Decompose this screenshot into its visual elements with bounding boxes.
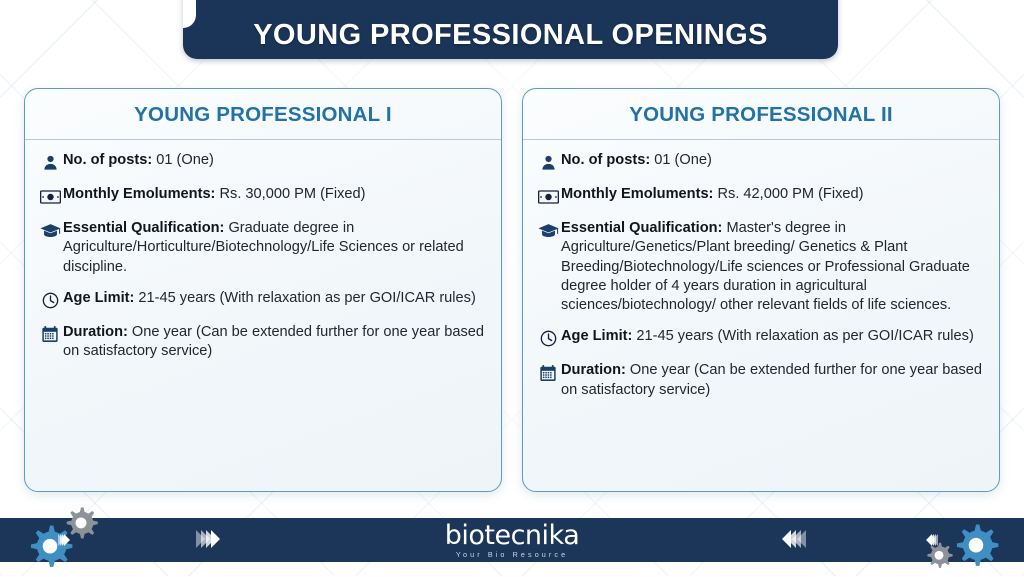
list-item-text: Essential Qualification: Master's degree… <box>561 219 985 315</box>
list-item-value: Rs. 30,000 PM (Fixed) <box>215 186 365 202</box>
person-icon <box>535 152 561 173</box>
list-item-value: 21-45 years (With relaxation as per GOI/… <box>134 290 475 306</box>
card-body: No. of posts: 01 (One) Monthly Emolument… <box>25 140 501 491</box>
list-item-text: Duration: One year (Can be extended furt… <box>63 323 487 362</box>
list-item-label: Age Limit: <box>561 328 632 344</box>
list-item-label: Age Limit: <box>63 290 134 306</box>
banknote-icon <box>37 186 63 207</box>
card-body: No. of posts: 01 (One) Monthly Emolument… <box>523 140 999 491</box>
list-item-text: No. of posts: 01 (One) <box>63 151 487 170</box>
list-item-value: 21-45 years (With relaxation as per GOI/… <box>632 328 973 344</box>
left-chevrons-icon-b <box>926 534 934 546</box>
list-item-duration: Duration: One year (Can be extended furt… <box>37 323 487 362</box>
card-young-professional-2: YOUNG PROFESSIONAL II No. of posts: 01 (… <box>522 88 1000 492</box>
right-chevrons-icon-b <box>196 530 216 548</box>
card-young-professional-1: YOUNG PROFESSIONAL I No. of posts: 01 (O… <box>24 88 502 492</box>
list-item-value: 01 (One) <box>152 152 214 168</box>
list-item-essential-qualification: Essential Qualification: Graduate degree… <box>37 219 487 277</box>
list-item-monthly-emoluments: Monthly Emoluments: Rs. 30,000 PM (Fixed… <box>37 185 487 207</box>
list-item-no-of-posts: No. of posts: 01 (One) <box>535 151 985 173</box>
list-item-text: No. of posts: 01 (One) <box>561 151 985 170</box>
graduation-cap-icon <box>535 220 561 241</box>
footer-content <box>0 518 1024 562</box>
clock-icon <box>37 290 63 311</box>
card-title: YOUNG PROFESSIONAL II <box>523 89 999 140</box>
list-item-label: Duration: <box>63 324 128 340</box>
list-item-label: No. of posts: <box>63 152 152 168</box>
clock-icon <box>535 328 561 349</box>
list-item-duration: Duration: One year (Can be extended furt… <box>535 361 985 400</box>
list-item-no-of-posts: No. of posts: 01 (One) <box>37 151 487 173</box>
list-item-text: Essential Qualification: Graduate degree… <box>63 219 487 277</box>
card-title: YOUNG PROFESSIONAL I <box>25 89 501 140</box>
banknote-icon <box>535 186 561 207</box>
list-item-label: Essential Qualification: <box>561 220 722 236</box>
calendar-icon <box>37 324 63 345</box>
left-chevrons-icon-a <box>782 530 802 548</box>
list-item-label: Monthly Emoluments: <box>561 186 713 202</box>
list-item-label: Monthly Emoluments: <box>63 186 215 202</box>
list-item-monthly-emoluments: Monthly Emoluments: Rs. 42,000 PM (Fixed… <box>535 185 985 207</box>
calendar-icon <box>535 362 561 383</box>
graduation-cap-icon <box>37 220 63 241</box>
list-item-text: Monthly Emoluments: Rs. 30,000 PM (Fixed… <box>63 185 487 204</box>
list-item-age-limit: Age Limit: 21-45 years (With relaxation … <box>535 327 985 349</box>
list-item-label: Duration: <box>561 362 626 378</box>
list-item-text: Age Limit: 21-45 years (With relaxation … <box>63 289 487 308</box>
list-item-text: Monthly Emoluments: Rs. 42,000 PM (Fixed… <box>561 185 985 204</box>
list-item-label: No. of posts: <box>561 152 650 168</box>
page-title: YOUNG PROFESSIONAL OPENINGS <box>253 21 768 50</box>
cards-container: YOUNG PROFESSIONAL I No. of posts: 01 (O… <box>0 88 1024 492</box>
list-item-label: Essential Qualification: <box>63 220 224 236</box>
right-chevrons-icon-a <box>58 534 66 546</box>
list-item-value: Rs. 42,000 PM (Fixed) <box>713 186 863 202</box>
list-item-text: Age Limit: 21-45 years (With relaxation … <box>561 327 985 346</box>
list-item-value: 01 (One) <box>650 152 712 168</box>
list-item-age-limit: Age Limit: 21-45 years (With relaxation … <box>37 289 487 311</box>
list-item-text: Duration: One year (Can be extended furt… <box>561 361 985 400</box>
header-banner: YOUNG PROFESSIONAL OPENINGS <box>183 0 838 59</box>
list-item-essential-qualification: Essential Qualification: Master's degree… <box>535 219 985 315</box>
person-icon <box>37 152 63 173</box>
